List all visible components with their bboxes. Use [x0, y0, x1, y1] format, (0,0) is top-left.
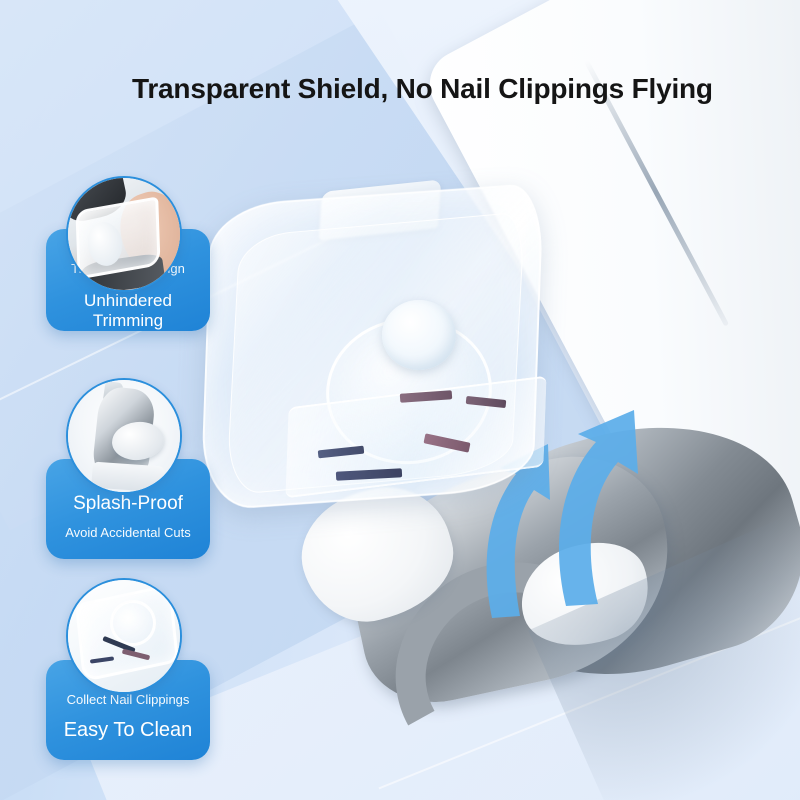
- nail-clipping: [423, 433, 470, 452]
- thumbnail-photo: [68, 380, 180, 492]
- stainless-steel-jaw: [333, 439, 691, 716]
- white-clipper-pad-secondary: [507, 526, 663, 664]
- thumbnail-photo: [68, 580, 180, 692]
- product-feature-banner: Transparent Shield, No Nail Clippings Fl…: [0, 0, 800, 800]
- feature-card-line-top: Splash-Proof: [54, 493, 202, 516]
- white-clipper-pad: [287, 472, 466, 636]
- nail-clipping: [400, 390, 453, 403]
- product-drop-shadow: [528, 508, 800, 800]
- feature-thumbnail-easy-to-clean: [66, 578, 182, 694]
- thumbnail-clipper-base: [91, 462, 165, 493]
- steel-jaw-notch: [453, 503, 607, 657]
- page-title: Transparent Shield, No Nail Clippings Fl…: [132, 72, 800, 105]
- shield-knob: [382, 300, 456, 370]
- feature-card-line-top: Collect Nail Clippings: [54, 692, 202, 708]
- nail-clipping: [318, 446, 365, 459]
- shield-lower-band: [285, 376, 546, 499]
- steel-hook-arm: [372, 534, 644, 800]
- upward-motion-arrow-right: [538, 408, 658, 608]
- nail-clipping: [466, 396, 507, 408]
- feature-card-line-bottom: Easy To Clean: [54, 718, 202, 742]
- background-highlight-line-3: [605, 0, 800, 225]
- shield-front-face: [226, 211, 525, 495]
- feature-card-line-bottom: Unhindered Trimming: [54, 291, 202, 332]
- nail-clipping: [336, 468, 402, 480]
- upward-motion-arrow-left: [470, 440, 580, 620]
- transparent-catcher-shield: [200, 183, 544, 512]
- shield-top-tab: [319, 179, 442, 240]
- thumbnail-photo: [68, 178, 180, 290]
- steel-lever-arm: [443, 389, 800, 711]
- background-highlight-line-2: [379, 593, 800, 790]
- shield-circular-ring: [318, 308, 501, 473]
- feature-thumbnail-transparent-design: [66, 176, 182, 292]
- feature-card-line-bottom: Avoid Accidental Cuts: [54, 525, 202, 541]
- feature-thumbnail-splash-proof: [66, 378, 182, 494]
